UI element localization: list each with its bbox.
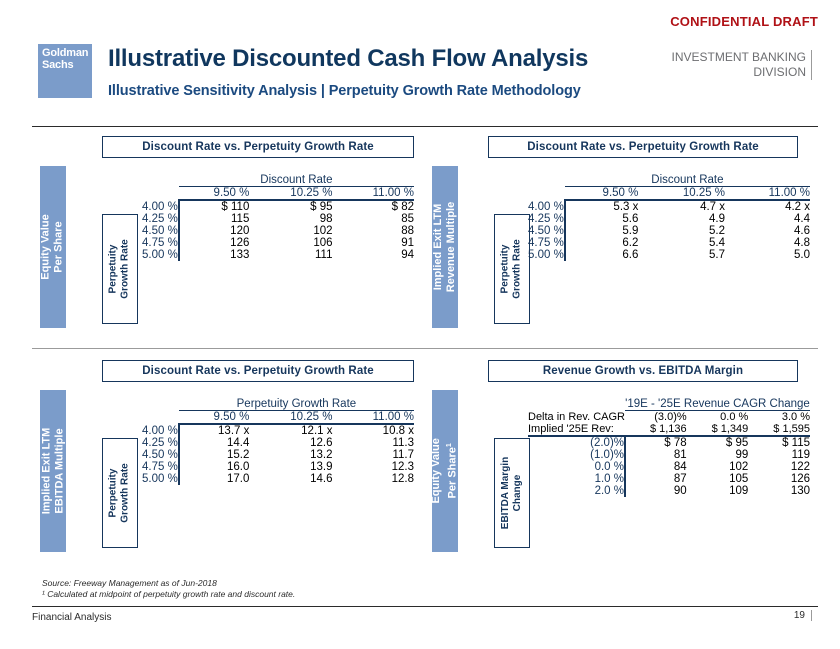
table-cell: 11.3 <box>332 437 414 449</box>
table-cell: 122 <box>748 461 810 473</box>
row-label-line-2: Growth Rate <box>120 463 131 522</box>
table-cell: 4.9 <box>638 213 725 225</box>
row-axis-label: PerpetuityGrowth Rate <box>494 214 530 324</box>
table-cell: 11.7 <box>332 449 414 461</box>
table-row: 4.75 % 126 106 91 <box>142 237 414 249</box>
column-header: 10.25 % <box>638 187 725 201</box>
table-cell: 4.8 <box>725 237 810 249</box>
row-header: 4.75 % <box>142 461 179 473</box>
side-label-line-1: Equity Value <box>40 214 52 279</box>
table-cell: 88 <box>333 225 415 237</box>
pre-row-value: (3.0)% <box>625 411 687 424</box>
row-header: 4.50 % <box>528 225 565 237</box>
table-cell: 102 <box>687 461 749 473</box>
row-header: 1.0 % <box>528 473 625 485</box>
column-header: 9.50 % <box>565 187 639 201</box>
panel-implied-exit-ltm-ebitda-multiple: Discount Rate vs. Perpetuity Growth Rate… <box>32 358 422 570</box>
table-cell: 90 <box>625 485 687 497</box>
pre-row: Delta in Rev. CAGR (3.0)% 0.0 % 3.0 % <box>528 411 810 424</box>
row-axis-label: EBITDA MarginChange <box>494 438 530 548</box>
table-row: 4.25 % 115 98 85 <box>142 213 414 225</box>
panel-implied-exit-ltm-revenue-multiple: Discount Rate vs. Perpetuity Growth Rate… <box>424 134 820 344</box>
table-cell: 85 <box>333 213 415 225</box>
table-cell: 106 <box>249 237 332 249</box>
side-label-line-2: Per Share <box>447 447 459 498</box>
table-cell: 5.3 x <box>565 200 639 213</box>
table-row: 4.75 % 16.0 13.9 12.3 <box>142 461 414 473</box>
table-row: 1.0 % 87 105 126 <box>528 473 810 485</box>
column-span-header: Perpetuity Growth Rate <box>179 398 414 411</box>
table-cell: 14.4 <box>179 437 250 449</box>
row-header: 4.25 % <box>142 437 179 449</box>
table-cell: 119 <box>748 449 810 461</box>
table-cell: 94 <box>333 249 415 261</box>
table-cell: 16.0 <box>179 461 250 473</box>
table-cell: 6.2 <box>565 237 639 249</box>
title-block: Illustrative Discounted Cash Flow Analys… <box>108 44 588 99</box>
row-header: 5.00 % <box>142 249 179 261</box>
table-cell: 13.7 x <box>179 424 250 437</box>
table-span-header-row: Discount Rate <box>142 174 414 187</box>
table-cell: 6.6 <box>565 249 639 261</box>
source-note: Source: Freeway Management as of Jun-201… <box>42 578 295 600</box>
side-label-line-2: Per Share <box>53 221 65 272</box>
table-row: 5.00 % 6.6 5.7 5.0 <box>528 249 810 261</box>
table-cell: 133 <box>179 249 250 261</box>
table-cell: 130 <box>748 485 810 497</box>
table-cell: 105 <box>687 473 749 485</box>
table-row: 4.25 % 5.6 4.9 4.4 <box>528 213 810 225</box>
column-header: 11.00 % <box>332 411 414 425</box>
table-cell: 5.0 <box>725 249 810 261</box>
pre-row-value: $ 1,136 <box>625 423 687 436</box>
table-cell: $ 95 <box>687 436 749 449</box>
footer-section-label: Financial Analysis <box>32 612 111 623</box>
table-cell: 87 <box>625 473 687 485</box>
pre-row-value: 3.0 % <box>748 411 810 424</box>
table-cell: 13.9 <box>249 461 332 473</box>
table-cell: 91 <box>333 237 415 249</box>
side-label-line-1: Equity Value <box>430 438 442 503</box>
row-header: 4.75 % <box>142 237 179 249</box>
table-span-header-row: '19E - '25E Revenue CAGR Change <box>528 398 810 411</box>
table-cell: $ 110 <box>179 200 250 213</box>
table-cell: 15.2 <box>179 449 250 461</box>
table-row: 2.0 % 90 109 130 <box>528 485 810 497</box>
row-label-line-2: Growth Rate <box>120 239 131 298</box>
column-span-header: Discount Rate <box>565 174 810 187</box>
table-row: 5.00 % 17.0 14.6 12.8 <box>142 473 414 485</box>
table-header-row: 9.50 % 10.25 % 11.00 % <box>142 187 414 201</box>
table-cell: 12.1 x <box>249 424 332 437</box>
side-label-line-1: Implied Exit LTM <box>432 204 444 291</box>
row-header: 4.50 % <box>142 449 179 461</box>
division-line-1: INVESTMENT BANKING <box>672 50 806 65</box>
side-label-line-2: Revenue Multiple <box>445 202 457 292</box>
table-row: 4.00 % $ 110 $ 95 $ 82 <box>142 200 414 213</box>
slide: CONFIDENTIAL DRAFT Goldman Sachs Illustr… <box>0 0 840 649</box>
side-label-line-1: Implied Exit LTM <box>40 428 52 515</box>
column-span-header: Discount Rate <box>179 174 414 187</box>
logo-line-1: Goldman <box>42 48 92 60</box>
table-cell: 4.7 x <box>638 200 725 213</box>
row-header: 4.00 % <box>142 200 179 213</box>
column-header: 11.00 % <box>725 187 810 201</box>
table-row: (1.0)% 81 99 119 <box>528 449 810 461</box>
panel-title: Discount Rate vs. Perpetuity Growth Rate <box>102 360 414 382</box>
panel-side-label: Equity ValuePer Share <box>40 166 66 328</box>
table-cell: 99 <box>687 449 749 461</box>
table-cell: 84 <box>625 461 687 473</box>
table-row: (2.0)% $ 78 $ 95 $ 115 <box>528 436 810 449</box>
table-cell: 4.6 <box>725 225 810 237</box>
table-row: 4.00 % 5.3 x 4.7 x 4.2 x <box>528 200 810 213</box>
table-cell: 4.4 <box>725 213 810 225</box>
row-label-line-1: Perpetuity <box>108 469 119 518</box>
table-cell: 126 <box>179 237 250 249</box>
pre-row-value: $ 1,595 <box>748 423 810 436</box>
division-line-2: DIVISION <box>672 65 806 80</box>
footer-divider <box>32 606 818 607</box>
row-header: 4.00 % <box>528 200 565 213</box>
table-cell: 5.7 <box>638 249 725 261</box>
row-header: (2.0)% <box>528 436 625 449</box>
table-cell: 12.3 <box>332 461 414 473</box>
table-row: 4.75 % 6.2 5.4 4.8 <box>528 237 810 249</box>
row-label-line-1: Perpetuity <box>108 245 119 294</box>
pre-row-value: $ 1,349 <box>687 423 749 436</box>
header-divider <box>32 126 818 127</box>
side-label-superscript: 1 <box>446 443 453 447</box>
goldman-sachs-logo: Goldman Sachs <box>38 44 92 98</box>
table-cell: 115 <box>179 213 250 225</box>
row-header: 4.75 % <box>528 237 565 249</box>
table-cell: 14.6 <box>249 473 332 485</box>
table-header-row: 9.50 % 10.25 % 11.00 % <box>528 187 810 201</box>
table-cell: 81 <box>625 449 687 461</box>
panel-side-label: Implied Exit LTMRevenue Multiple <box>432 166 458 328</box>
panel-title: Discount Rate vs. Perpetuity Growth Rate <box>488 136 798 158</box>
row-header: 5.00 % <box>142 473 179 485</box>
table-cell: 5.6 <box>565 213 639 225</box>
table-row: 4.00 % 13.7 x 12.1 x 10.8 x <box>142 424 414 437</box>
table-header-row: 9.50 % 10.25 % 11.00 % <box>142 411 414 425</box>
confidential-label: CONFIDENTIAL DRAFT <box>670 14 818 29</box>
pre-row-label: Implied '25E Rev: <box>528 423 625 436</box>
sensitivity-table: Perpetuity Growth Rate 9.50 % 10.25 % 11… <box>142 398 414 485</box>
table-cell: 5.9 <box>565 225 639 237</box>
middle-divider <box>32 348 818 349</box>
table-span-header-row: Perpetuity Growth Rate <box>142 398 414 411</box>
source-line: Source: Freeway Management as of Jun-201… <box>42 578 295 589</box>
division-label: INVESTMENT BANKING DIVISION <box>672 50 812 80</box>
page-title: Illustrative Discounted Cash Flow Analys… <box>108 44 588 74</box>
row-label-line-1: EBITDA Margin <box>500 457 511 529</box>
table-cell: 102 <box>249 225 332 237</box>
column-header: 11.00 % <box>333 187 415 201</box>
row-header: 0.0 % <box>528 461 625 473</box>
side-label-line-2: EBITDA Multiple <box>53 428 65 513</box>
column-header: 9.50 % <box>179 411 250 425</box>
panel-equity-value-per-share: Discount Rate vs. Perpetuity Growth Rate… <box>32 134 422 344</box>
pre-row: Implied '25E Rev: $ 1,136 $ 1,349 $ 1,59… <box>528 423 810 436</box>
table-cell: 109 <box>687 485 749 497</box>
table-cell: $ 95 <box>249 200 332 213</box>
table-row: 4.25 % 14.4 12.6 11.3 <box>142 437 414 449</box>
column-span-header: '19E - '25E Revenue CAGR Change <box>625 398 810 411</box>
row-header: (1.0)% <box>528 449 625 461</box>
column-header: 9.50 % <box>179 187 250 201</box>
table-cell: 111 <box>249 249 332 261</box>
logo-line-2: Sachs <box>42 60 92 72</box>
pre-row-label: Delta in Rev. CAGR <box>528 411 625 424</box>
row-header: 4.25 % <box>142 213 179 225</box>
table-row: 4.50 % 15.2 13.2 11.7 <box>142 449 414 461</box>
table-cell: 98 <box>249 213 332 225</box>
table-row: 4.50 % 120 102 88 <box>142 225 414 237</box>
table-cell: 10.8 x <box>332 424 414 437</box>
panel-revenue-growth-vs-ebitda-margin: Revenue Growth vs. EBITDA Margin Equity … <box>424 358 820 570</box>
panel-title: Discount Rate vs. Perpetuity Growth Rate <box>102 136 414 158</box>
row-label-line-2: Growth Rate <box>512 239 523 298</box>
pre-row-value: 0.0 % <box>687 411 749 424</box>
row-header: 4.25 % <box>528 213 565 225</box>
panel-title: Revenue Growth vs. EBITDA Margin <box>488 360 798 382</box>
page-number: 19 <box>794 610 812 621</box>
sensitivity-table: '19E - '25E Revenue CAGR Change Delta in… <box>528 398 810 497</box>
table-cell: 12.8 <box>332 473 414 485</box>
table-row: 5.00 % 133 111 94 <box>142 249 414 261</box>
row-label-line-2: Change <box>512 475 523 512</box>
table-cell: 5.2 <box>638 225 725 237</box>
row-header: 4.00 % <box>142 424 179 437</box>
table-cell: $ 82 <box>333 200 415 213</box>
panel-side-label: Implied Exit LTMEBITDA Multiple <box>40 390 66 552</box>
table-cell: $ 78 <box>625 436 687 449</box>
row-label-line-1: Perpetuity <box>500 245 511 294</box>
table-cell: 4.2 x <box>725 200 810 213</box>
row-axis-label: PerpetuityGrowth Rate <box>102 438 138 548</box>
table-cell: 12.6 <box>249 437 332 449</box>
column-header: 10.25 % <box>249 187 332 201</box>
panel-side-label: Equity ValuePer Share1 <box>432 390 458 552</box>
row-header: 5.00 % <box>528 249 565 261</box>
table-cell: 120 <box>179 225 250 237</box>
row-header: 4.50 % <box>142 225 179 237</box>
page-subtitle: Illustrative Sensitivity Analysis | Perp… <box>108 83 588 99</box>
table-cell: 17.0 <box>179 473 250 485</box>
footnote-line: ¹ Calculated at midpoint of perpetuity g… <box>42 589 295 600</box>
table-cell: 126 <box>748 473 810 485</box>
table-row: 4.50 % 5.9 5.2 4.6 <box>528 225 810 237</box>
table-cell: 5.4 <box>638 237 725 249</box>
sensitivity-table: Discount Rate 9.50 % 10.25 % 11.00 % 4.0… <box>142 174 414 261</box>
sensitivity-table: Discount Rate 9.50 % 10.25 % 11.00 % 4.0… <box>528 174 810 261</box>
row-header: 2.0 % <box>528 485 625 497</box>
table-cell: 13.2 <box>249 449 332 461</box>
table-row: 0.0 % 84 102 122 <box>528 461 810 473</box>
column-header: 10.25 % <box>249 411 332 425</box>
row-axis-label: PerpetuityGrowth Rate <box>102 214 138 324</box>
table-span-header-row: Discount Rate <box>528 174 810 187</box>
table-cell: $ 115 <box>748 436 810 449</box>
